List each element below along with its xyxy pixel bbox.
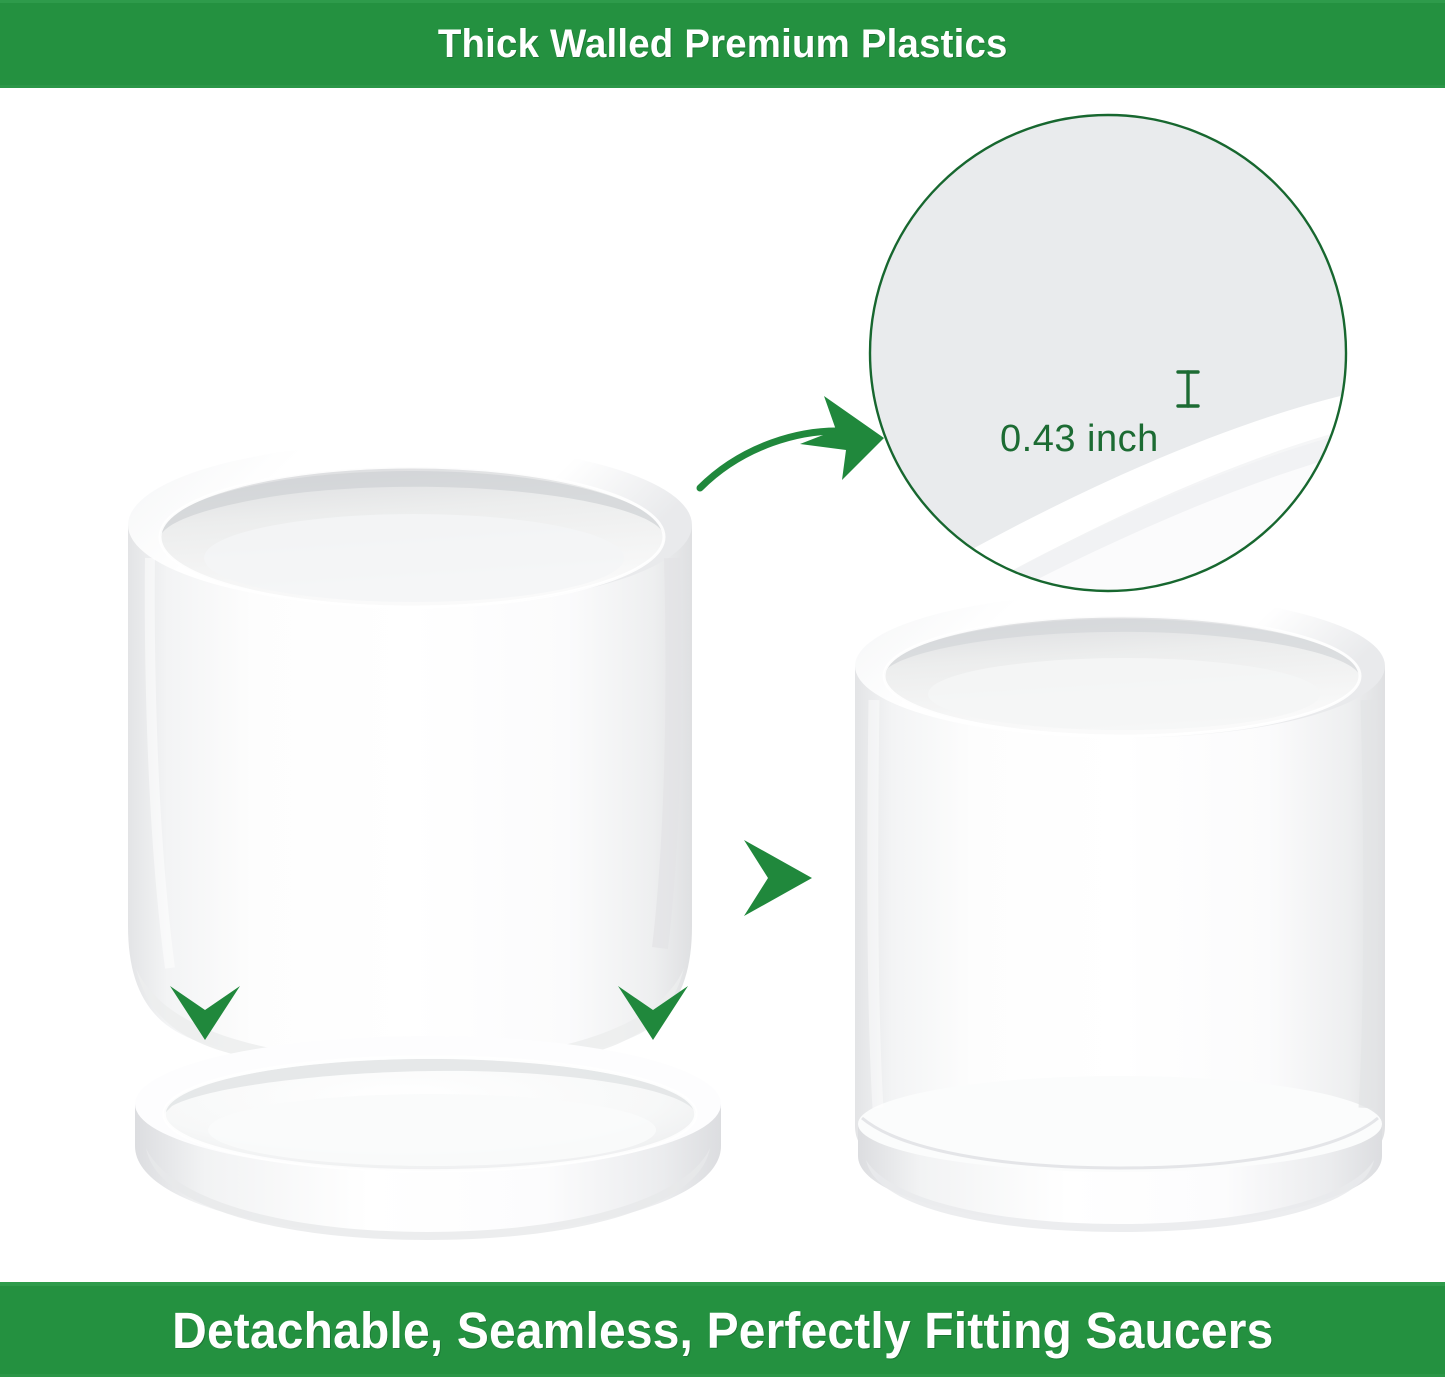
magnifier-dimension-label: 0.43 inch [1000,418,1159,461]
pot-open-left [128,443,692,1072]
bottom-banner-text: Detachable, Seamless, Perfectly Fitting … [172,1305,1273,1356]
pot-right-saucer-lip [858,1076,1382,1172]
pot-with-saucer-right [855,594,1385,1232]
top-banner: Thick Walled Premium Plastics [0,0,1445,88]
top-banner-text: Thick Walled Premium Plastics [438,24,1008,64]
curved-arrow-to-magnifier-icon [700,396,884,488]
product-infographic: Thick Walled Premium Plastics [0,0,1445,1377]
right-arrow-assembled-pot-icon [744,840,812,916]
saucer [135,1036,721,1240]
product-illustration [0,88,1445,1282]
bottom-banner: Detachable, Seamless, Perfectly Fitting … [0,1282,1445,1377]
product-artwork-stage: 0.43 inch [0,88,1445,1282]
